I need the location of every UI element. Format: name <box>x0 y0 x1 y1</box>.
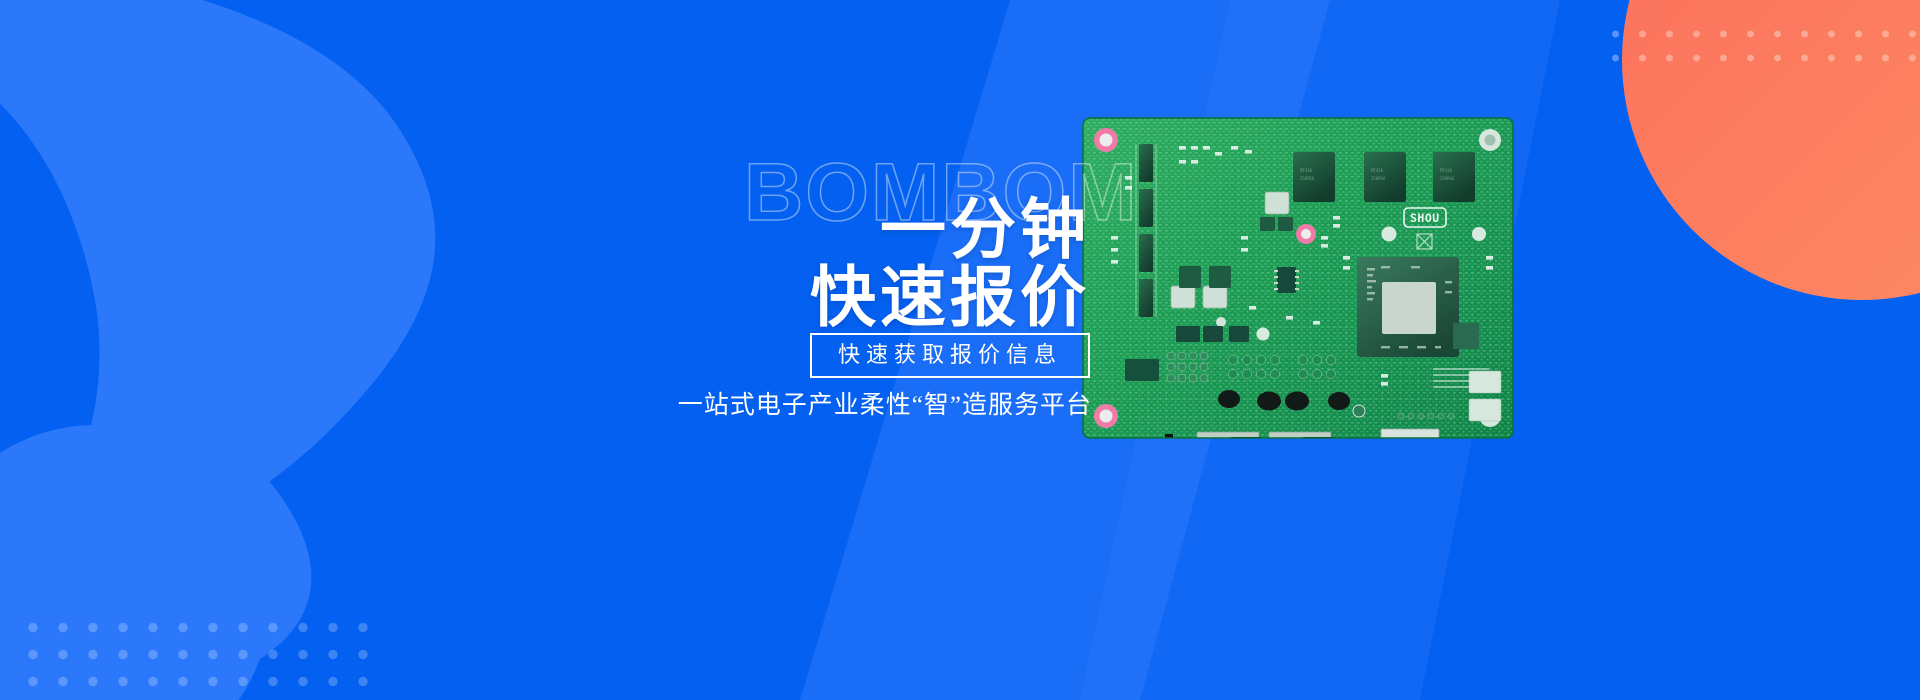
pcb-board-image: MT41K256M16 MT41K256M16 MT41K256M16 <box>1081 116 1515 454</box>
page-title: 一分钟 快速报价 <box>810 196 1090 332</box>
pcb-components: MT41K256M16 MT41K256M16 MT41K256M16 <box>1083 118 1513 453</box>
pcb-silkscreen-label: SHOU <box>1410 211 1440 225</box>
promo-banner: MT41K256M16 MT41K256M16 MT41K256M16 <box>0 0 1920 700</box>
dot-grid-top-right <box>1602 22 1920 64</box>
headline-line-1: 一分钟 <box>810 196 1090 264</box>
svg-text:256M16: 256M16 <box>1371 176 1386 181</box>
svg-text:256M16: 256M16 <box>1300 176 1315 181</box>
headline-line-2: 快速报价 <box>810 264 1090 332</box>
svg-text:MT41K: MT41K <box>1440 168 1453 173</box>
pcb-board-graphic: MT41K256M16 MT41K256M16 MT41K256M16 <box>1081 116 1515 454</box>
svg-text:256M16: 256M16 <box>1440 176 1455 181</box>
subtitle-badge: 快速获取报价信息 <box>810 333 1090 378</box>
svg-text:MT41K: MT41K <box>1300 168 1313 173</box>
copy-block: BOMBOM 一分钟 快速报价 快速获取报价信息 一站式电子产业柔性“智”造服务… <box>620 148 1090 438</box>
svg-text:MT41K: MT41K <box>1371 168 1384 173</box>
dot-grid-bottom-left <box>18 614 378 700</box>
tagline: 一站式电子产业柔性“智”造服务平台 <box>678 393 1092 418</box>
